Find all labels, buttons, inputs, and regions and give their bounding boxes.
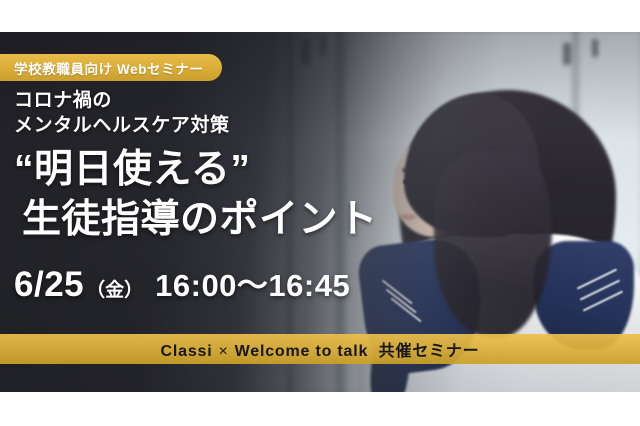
audience-badge-label: 学校教職員向け Webセミナー bbox=[14, 58, 204, 78]
schedule-time: 16:00〜16:45 bbox=[155, 260, 350, 305]
subtitle-line-1: コロナ禍の bbox=[14, 88, 230, 113]
audience-badge: 学校教職員向け Webセミナー bbox=[0, 54, 222, 81]
banner-subtitle: コロナ禍の メンタルヘルスケア対策 bbox=[14, 88, 230, 139]
headline-line-2: 生徒指導のポイント bbox=[14, 195, 378, 245]
image-viewer: 学校教職員向け Webセミナー コロナ禍の メンタルヘルスケア対策 “明日使える… bbox=[0, 0, 640, 426]
banner-headline: “明日使える” 生徒指導のポイント bbox=[14, 145, 378, 245]
cohost-separator-icon: × bbox=[218, 343, 228, 360]
webinar-banner: 学校教職員向け Webセミナー コロナ禍の メンタルヘルスケア対策 “明日使える… bbox=[0, 32, 640, 392]
cohost-footer-text: Classi×Welcome to talk 共催セミナー bbox=[161, 337, 480, 361]
subtitle-line-2: メンタルヘルスケア対策 bbox=[14, 113, 230, 138]
cohost-name-left: Classi bbox=[161, 343, 213, 360]
headline-line-1: “明日使える” bbox=[14, 145, 378, 195]
schedule-day-of-week: （金） bbox=[86, 275, 143, 302]
banner-content: 学校教職員向け Webセミナー コロナ禍の メンタルヘルスケア対策 “明日使える… bbox=[0, 32, 640, 392]
cohost-footer-band: Classi×Welcome to talk 共催セミナー bbox=[0, 334, 640, 364]
schedule-date: 6/25 bbox=[14, 265, 84, 305]
cohost-suffix: 共催セミナー bbox=[379, 343, 480, 360]
cohost-name-right: Welcome to talk bbox=[235, 343, 369, 360]
schedule-row: 6/25 （金） 16:00〜16:45 bbox=[14, 260, 350, 305]
